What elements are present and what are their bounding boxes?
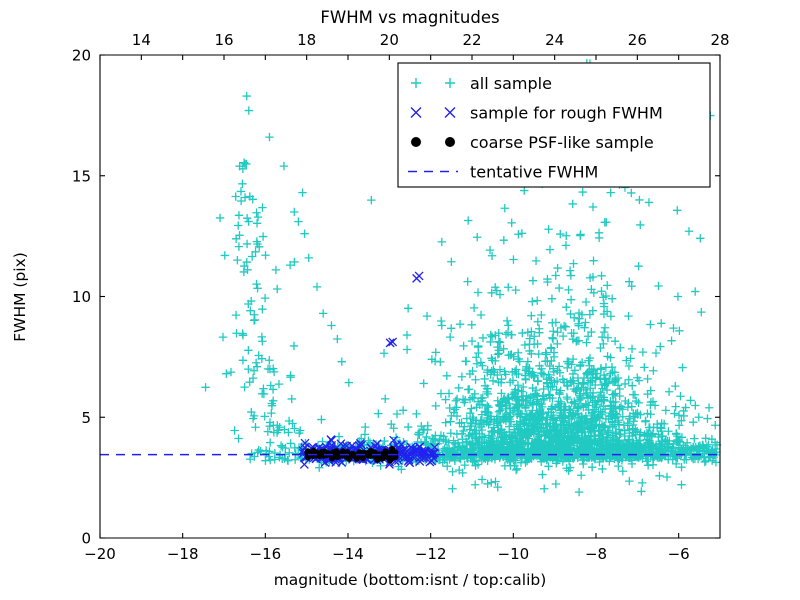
x-axis-label: magnitude (bottom:isnt / top:calib) <box>274 571 547 589</box>
legend-label: coarse PSF-like sample <box>470 133 654 152</box>
x-tick-label: −14 <box>332 545 364 563</box>
x-tick-label: −18 <box>167 545 199 563</box>
legend[interactable]: all samplesample for rough FWHMcoarse PS… <box>398 63 710 187</box>
top-tick-label: 14 <box>132 31 151 49</box>
scatter-plot-svg: −20−18−16−14−12−10−8−6141618202224262805… <box>0 0 800 600</box>
y-tick-label: 5 <box>81 409 91 427</box>
x-tick-label: −6 <box>668 545 690 563</box>
y-axis-label: FWHM (pix) <box>11 252 29 342</box>
page-title: FWHM vs magnitudes <box>320 8 499 27</box>
data-point-dot <box>411 137 421 147</box>
y-tick-label: 10 <box>72 288 91 306</box>
top-tick-label: 20 <box>380 31 399 49</box>
y-tick-label: 0 <box>81 530 91 548</box>
legend-label: sample for rough FWHM <box>470 104 663 123</box>
data-point-dot <box>330 452 336 458</box>
y-tick-label: 20 <box>72 47 91 65</box>
data-point-dot <box>316 453 322 459</box>
top-tick-label: 16 <box>214 31 233 49</box>
x-tick-label: −8 <box>585 545 607 563</box>
data-point-dot <box>445 137 455 147</box>
x-tick-label: −20 <box>84 545 116 563</box>
x-tick-label: −10 <box>498 545 530 563</box>
data-point-dot <box>310 453 316 459</box>
top-tick-label: 22 <box>462 31 481 49</box>
top-tick-label: 26 <box>628 31 647 49</box>
figure-canvas: −20−18−16−14−12−10−8−6141618202224262805… <box>0 0 800 600</box>
top-tick-label: 18 <box>297 31 316 49</box>
x-tick-label: −16 <box>250 545 282 563</box>
top-tick-label: 24 <box>545 31 564 49</box>
top-tick-label: 28 <box>710 31 729 49</box>
legend-label: all sample <box>470 74 552 93</box>
data-point-dot <box>305 448 311 454</box>
data-point-dot <box>375 457 381 463</box>
y-tick-label: 15 <box>72 167 91 185</box>
legend-label: tentative FWHM <box>470 163 598 182</box>
x-tick-label: −12 <box>415 545 447 563</box>
